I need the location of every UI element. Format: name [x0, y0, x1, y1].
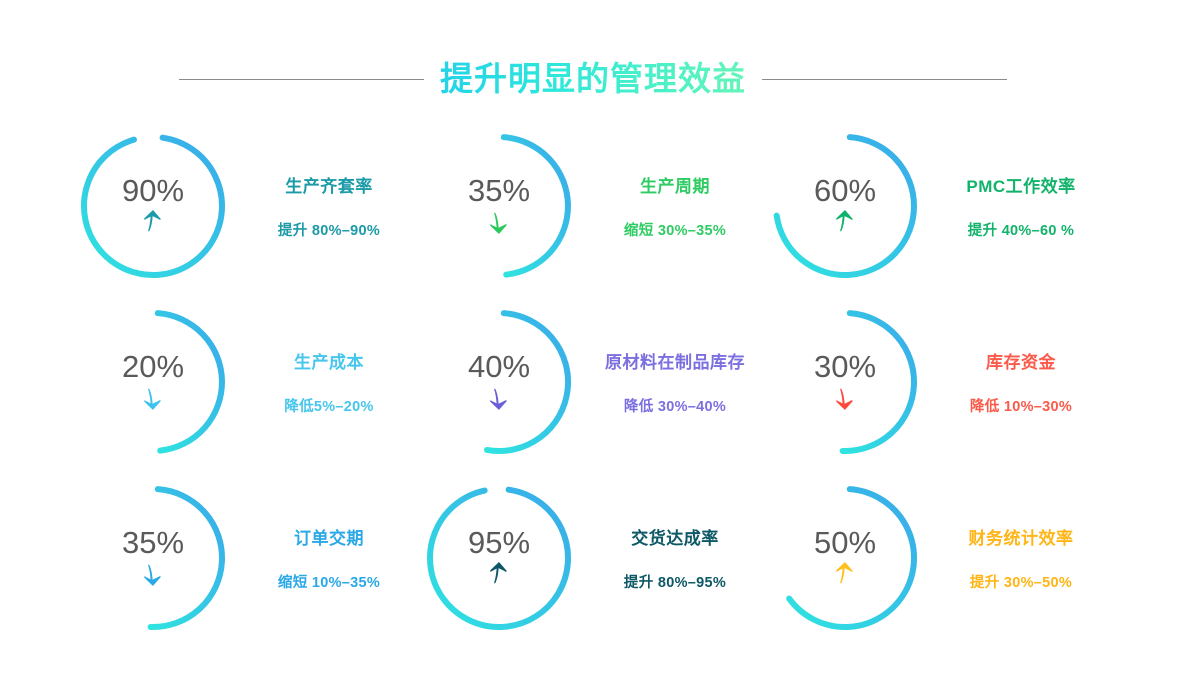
metric-card: 30%库存资金降低 10%–30% — [770, 294, 1116, 470]
progress-ring: 20% — [78, 307, 228, 457]
progress-ring: 35% — [424, 131, 574, 281]
progress-ring-svg — [424, 307, 574, 457]
metric-labels: 订单交期缩短 10%–35% — [244, 524, 414, 592]
progress-ring-svg — [78, 307, 228, 457]
metric-card: 35%订单交期缩短 10%–35% — [78, 470, 424, 646]
metric-labels: 交货达成率提升 80%–95% — [590, 524, 760, 592]
progress-ring-arc — [151, 489, 222, 627]
metric-labels: 财务统计效率提升 30%–50% — [936, 524, 1106, 592]
metric-labels: PMC工作效率提升 40%–60 % — [936, 172, 1106, 240]
metric-title: 生产成本 — [294, 348, 364, 373]
progress-ring: 50% — [770, 483, 920, 633]
progress-ring-arc — [84, 138, 222, 275]
metric-card: 50%财务统计效率提升 30%–50% — [770, 470, 1116, 646]
metric-card: 95%交货达成率提升 80%–95% — [424, 470, 770, 646]
progress-ring-arc — [843, 313, 914, 451]
header-rule-left — [179, 79, 424, 80]
progress-ring: 40% — [424, 307, 574, 457]
metric-subtitle: 缩短 30%–35% — [624, 219, 726, 240]
metric-title: 原材料在制品库存 — [605, 348, 745, 373]
infographic-page: 提升明显的管理效益 90%生产齐套率提升 80%–90%35%生产周期缩短 30… — [0, 0, 1186, 684]
metric-title: 库存资金 — [986, 348, 1056, 373]
metric-subtitle: 降低5%–20% — [284, 395, 373, 416]
metric-labels: 生产周期缩短 30%–35% — [590, 172, 760, 240]
metric-subtitle: 缩短 10%–35% — [278, 571, 380, 592]
progress-ring-svg — [770, 131, 920, 281]
metric-card: 20%生产成本降低5%–20% — [78, 294, 424, 470]
metric-subtitle: 提升 80%–90% — [278, 219, 380, 240]
progress-ring: 60% — [770, 131, 920, 281]
metric-subtitle: 提升 30%–50% — [970, 571, 1072, 592]
progress-ring: 35% — [78, 483, 228, 633]
progress-ring-svg — [78, 483, 228, 633]
progress-ring-svg — [770, 483, 920, 633]
metric-card: 60%PMC工作效率提升 40%–60 % — [770, 118, 1116, 294]
metric-card: 90%生产齐套率提升 80%–90% — [78, 118, 424, 294]
progress-ring-arc — [777, 137, 914, 275]
metric-subtitle: 提升 80%–95% — [624, 571, 726, 592]
metric-labels: 生产齐套率提升 80%–90% — [244, 172, 414, 240]
progress-ring-arc — [504, 137, 568, 274]
progress-ring-svg — [78, 131, 228, 281]
metrics-grid: 90%生产齐套率提升 80%–90%35%生产周期缩短 30%–35%60%PM… — [78, 118, 1118, 646]
metric-title: 生产齐套率 — [285, 172, 373, 197]
progress-ring-svg — [424, 131, 574, 281]
progress-ring-arc — [158, 313, 222, 450]
progress-ring-arc — [430, 490, 568, 627]
metric-subtitle: 降低 10%–30% — [970, 395, 1072, 416]
metric-card: 40%原材料在制品库存降低 30%–40% — [424, 294, 770, 470]
header-rule-right — [762, 79, 1007, 80]
page-header: 提升明显的管理效益 — [0, 56, 1186, 102]
metric-title: 订单交期 — [294, 524, 364, 549]
metric-title: 交货达成率 — [631, 524, 719, 549]
progress-ring-arc — [789, 489, 914, 627]
metric-labels: 原材料在制品库存降低 30%–40% — [590, 348, 760, 416]
metric-subtitle: 提升 40%–60 % — [968, 219, 1074, 240]
progress-ring: 95% — [424, 483, 574, 633]
metric-subtitle: 降低 30%–40% — [624, 395, 726, 416]
metric-labels: 库存资金降低 10%–30% — [936, 348, 1106, 416]
progress-ring-svg — [770, 307, 920, 457]
metric-title: 财务统计效率 — [969, 524, 1074, 549]
metric-title: PMC工作效率 — [966, 172, 1075, 197]
progress-ring: 30% — [770, 307, 920, 457]
metric-title: 生产周期 — [640, 172, 710, 197]
metric-labels: 生产成本降低5%–20% — [244, 348, 414, 416]
progress-ring-svg — [424, 483, 574, 633]
progress-ring-arc — [487, 313, 568, 451]
metric-card: 35%生产周期缩短 30%–35% — [424, 118, 770, 294]
page-title: 提升明显的管理效益 — [440, 60, 746, 98]
progress-ring: 90% — [78, 131, 228, 281]
